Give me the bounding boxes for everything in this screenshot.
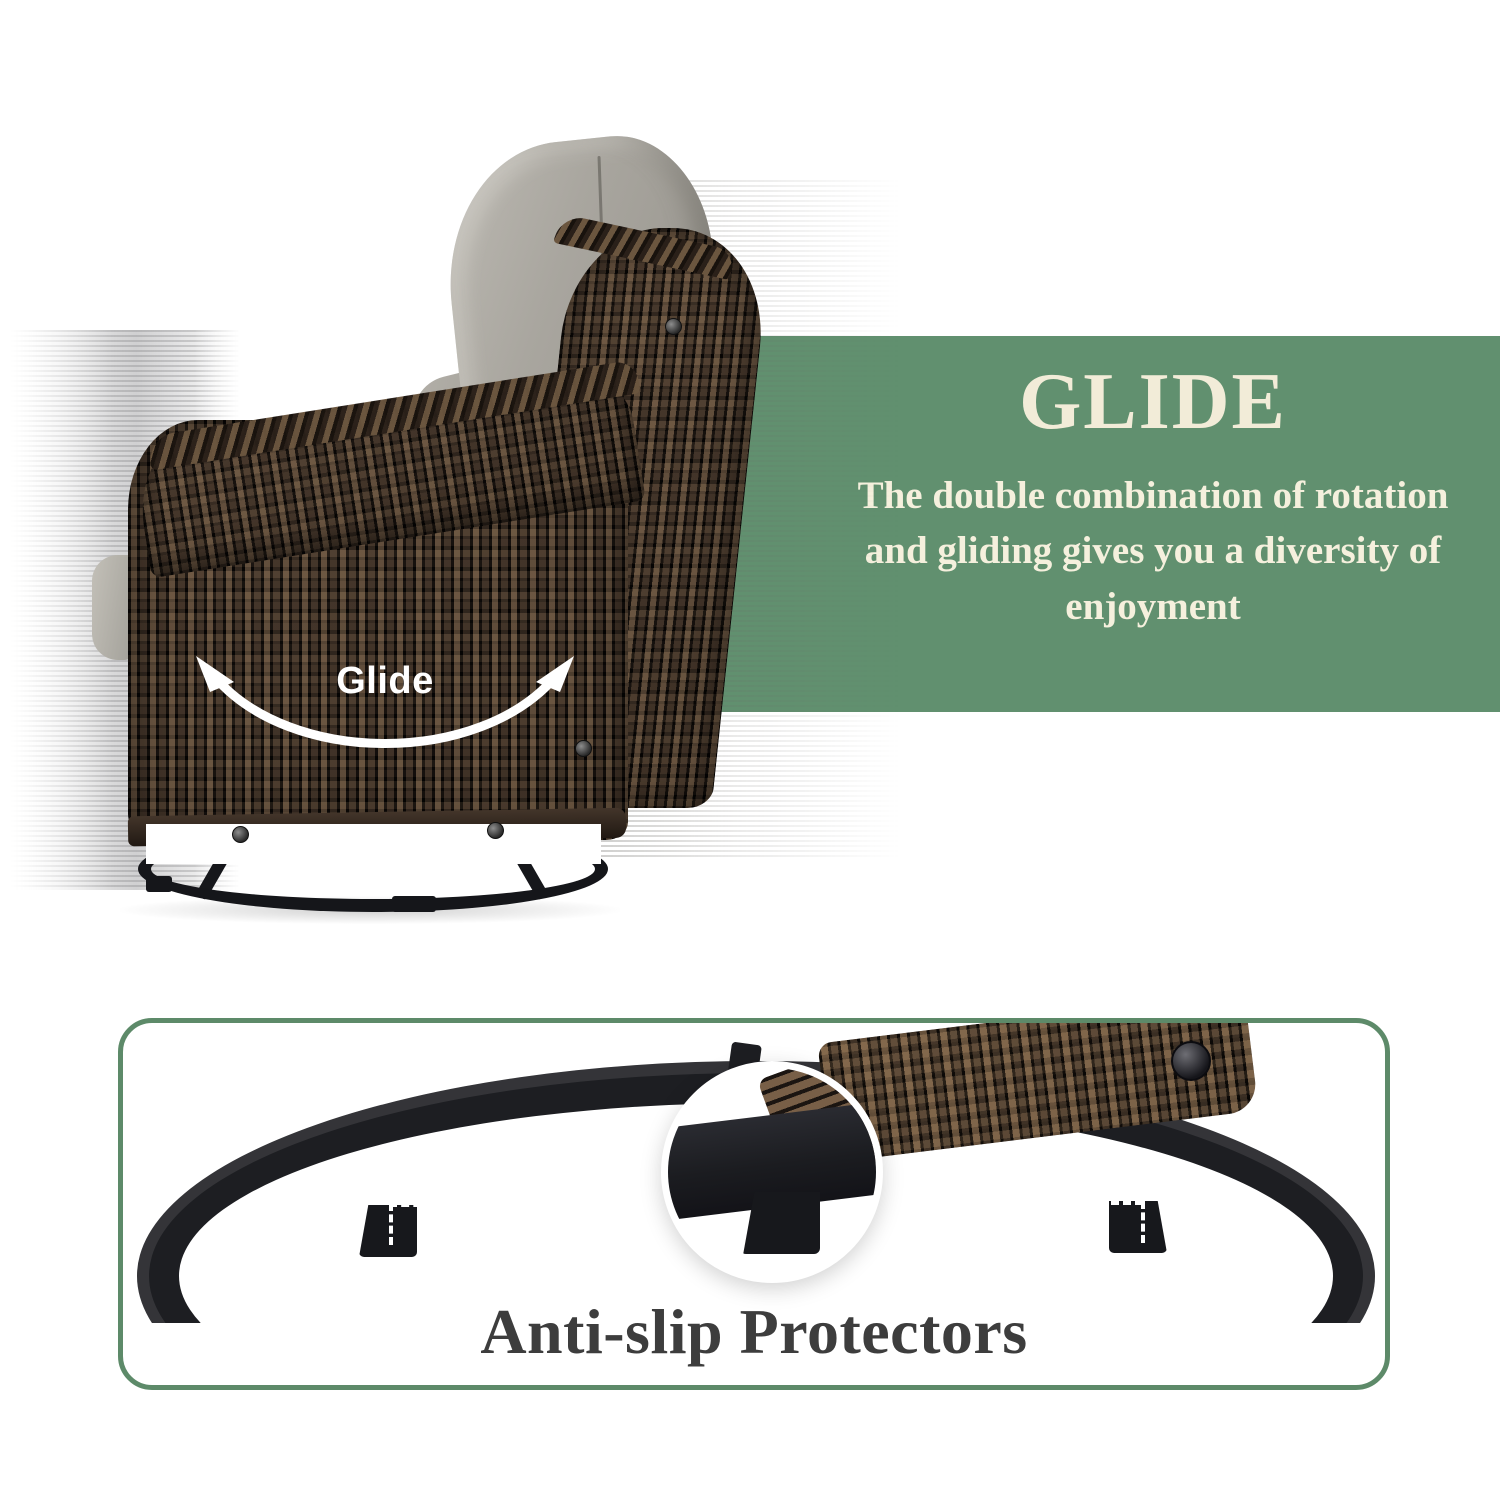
glide-arrow-annotation: Glide xyxy=(170,648,600,793)
anti-slip-caption: Anti-slip Protectors xyxy=(123,1295,1385,1369)
dashed-line-icon xyxy=(389,1203,393,1245)
glide-description: The double combination of rotation and g… xyxy=(843,468,1463,634)
swivel-base-ring-mask xyxy=(146,824,601,864)
glide-arrow-label: Glide xyxy=(170,660,600,703)
dashed-line-icon xyxy=(1141,1201,1145,1243)
anti-slip-pad-left xyxy=(359,1205,417,1257)
anti-slip-pad-right xyxy=(1109,1201,1167,1253)
swivel-hardware-knob-icon xyxy=(1171,1041,1211,1081)
base-foot-pad xyxy=(392,896,436,912)
chair-base-closeup-photo xyxy=(123,1023,1385,1323)
chair-product-photo: Glide xyxy=(0,0,900,980)
anti-slip-callout-panel: Anti-slip Protectors xyxy=(118,1018,1390,1390)
dashed-line-icon xyxy=(883,1201,1143,1205)
hardware-screw-icon xyxy=(487,822,504,839)
hardware-screw-icon xyxy=(665,318,682,335)
glide-feature-section: GLIDE The double combination of rotation… xyxy=(0,0,1500,980)
magnifier-circle-icon xyxy=(661,1061,883,1283)
dashed-line-icon xyxy=(389,1203,689,1207)
base-foot-pad xyxy=(146,876,172,892)
glide-title: GLIDE xyxy=(830,362,1476,442)
hardware-screw-icon xyxy=(232,826,249,843)
